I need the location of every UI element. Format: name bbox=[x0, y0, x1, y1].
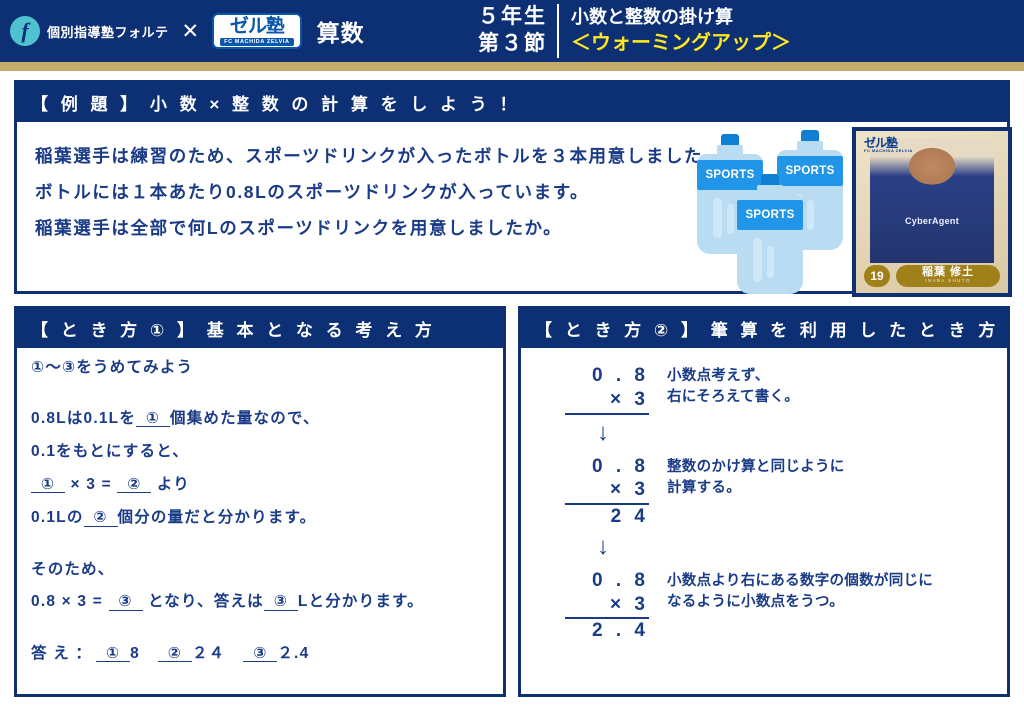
multiplicand: 0 . 8 bbox=[565, 364, 649, 388]
answer-mark-3: ③ bbox=[243, 646, 277, 663]
bottle-label: SPORTS bbox=[737, 200, 803, 230]
product: 2 4 bbox=[565, 505, 649, 529]
solution-1-step-line: 0.1Lの②個分の量だと分かります。 bbox=[31, 510, 503, 527]
calc-note-2: 整数のかけ算と同じように 計算する。 bbox=[667, 455, 845, 499]
player-photo: CyberAgent bbox=[870, 139, 994, 263]
answer-mark-2: ② bbox=[158, 646, 192, 663]
calculation-step-1: 0 . 8 × 3 小数点考えず、 右にそろえて書く。 bbox=[521, 364, 1007, 415]
answer-row: 答 え ：①8②２４③２.4 bbox=[31, 646, 503, 663]
solution-2-title: 【 と き 方 ② 】 筆 算 を 利 用 し た と き 方 bbox=[521, 309, 1007, 348]
calc-note-1: 小数点考えず、 右にそろえて書く。 bbox=[667, 364, 799, 408]
player-card-inner: CyberAgent ゼル塾 FC MACHIDA ZELVIA 19 稲葉 修… bbox=[856, 131, 1008, 293]
solution-1-step-line: 0.1をもとにすると、 bbox=[31, 444, 503, 460]
note-line: 右にそろえて書く。 bbox=[667, 387, 799, 408]
answer-value-3: ２.4 bbox=[277, 645, 309, 662]
down-arrow-icon: ↓ bbox=[521, 421, 1007, 445]
jersey-sponsor-text: CyberAgent bbox=[870, 216, 994, 226]
calc-column-2: 0 . 8 × 3 2 4 bbox=[565, 455, 649, 529]
page-header: f 個別指導塾フォルテ ✕ ゼル塾 FC MACHIDA ZELVIA 算数 ５… bbox=[0, 0, 1024, 62]
brand-lockup: f 個別指導塾フォルテ ✕ ゼル塾 FC MACHIDA ZELVIA 算数 bbox=[0, 13, 365, 49]
grade-line: ５年生 bbox=[478, 4, 547, 31]
sports-drink-bottles-illustration: SPORTS SPORTS SPORTS bbox=[693, 130, 853, 295]
player-name-pill: 稲葉 修土 INABA SHUTO bbox=[896, 265, 1000, 287]
player-name-roman: INABA SHUTO bbox=[925, 278, 971, 285]
spacer bbox=[31, 393, 503, 411]
solution-1-step-line: 0.8 × 3 = ③ となり、答えは③Lと分かります。 bbox=[31, 594, 503, 611]
multiplier: × 3 bbox=[565, 388, 649, 415]
product: 2 . 4 bbox=[565, 619, 649, 643]
blank-field-1[interactable]: ① bbox=[31, 477, 65, 494]
zeljuku-logo: ゼル塾 FC MACHIDA ZELVIA bbox=[212, 13, 302, 49]
player-card-footer: 19 稲葉 修土 INABA SHUTO bbox=[856, 263, 1008, 289]
brand-name: 個別指導塾フォルテ bbox=[47, 22, 169, 41]
solution-2-body: 0 . 8 × 3 小数点考えず、 右にそろえて書く。 ↓ 0 . 8 × 3 … bbox=[521, 348, 1007, 643]
solution-1-body: ①〜③をうめてみよう 0.8Lは0.1Lを①個集めた量なので、 0.1をもとにす… bbox=[17, 348, 503, 662]
solution-1-title: 【 と き 方 ① 】 基 本 と な る 考 え 方 bbox=[17, 309, 503, 348]
cross-icon: ✕ bbox=[182, 19, 200, 44]
step-text: 0.8Lは0.1Lを bbox=[31, 410, 136, 427]
step-text: Lと分かります。 bbox=[298, 593, 424, 610]
down-arrow-icon: ↓ bbox=[521, 535, 1007, 559]
calculation-step-2: 0 . 8 × 3 2 4 整数のかけ算と同じように 計算する。 bbox=[521, 455, 1007, 529]
blank-field-2[interactable]: ② bbox=[84, 510, 118, 527]
answer-label: 答 え ： bbox=[31, 645, 92, 662]
forte-f-logo-icon: f bbox=[10, 16, 40, 46]
blank-field-3[interactable]: ③ bbox=[109, 594, 143, 611]
step-text: 0.8 × 3 = bbox=[31, 593, 103, 610]
multiplicand: 0 . 8 bbox=[565, 569, 649, 593]
answer-item: ③２.4 bbox=[243, 645, 309, 662]
grade-block: ５年生 第３節 bbox=[478, 4, 559, 58]
step-text: 0.1Lの bbox=[31, 509, 84, 526]
calc-note-3: 小数点より右にある数字の個数が同じに なるように小数点をうつ。 bbox=[667, 569, 933, 613]
spacer bbox=[31, 628, 503, 646]
topic-block: 小数と整数の掛け算 ＜ウォーミングアップ＞ bbox=[559, 6, 791, 55]
answer-value-1: 8 bbox=[130, 645, 140, 662]
calc-column-3: 0 . 8 × 3 2 . 4 bbox=[565, 569, 649, 643]
player-card: CyberAgent ゼル塾 FC MACHIDA ZELVIA 19 稲葉 修… bbox=[852, 127, 1012, 297]
topic-title: 小数と整数の掛け算 bbox=[571, 6, 791, 29]
card-zeljuku-logo: ゼル塾 FC MACHIDA ZELVIA bbox=[864, 137, 913, 153]
answer-mark-1: ① bbox=[96, 646, 130, 663]
bottle-icon: SPORTS bbox=[737, 174, 803, 294]
calculation-step-3: 0 . 8 × 3 2 . 4 小数点より右にある数字の個数が同じに なるように… bbox=[521, 569, 1007, 643]
solution-1-step-line: そのため、 bbox=[31, 562, 503, 578]
note-line: 小数点考えず、 bbox=[667, 366, 799, 387]
zeljuku-logo-subtext: FC MACHIDA ZELVIA bbox=[220, 38, 294, 46]
step-text: となり、答えは bbox=[148, 593, 264, 610]
multiplicand: 0 . 8 bbox=[565, 455, 649, 479]
calc-column-1: 0 . 8 × 3 bbox=[565, 364, 649, 415]
multiplier: × 3 bbox=[565, 478, 649, 505]
player-name: 稲葉 修土 bbox=[922, 267, 974, 278]
blank-field-3[interactable]: ③ bbox=[264, 594, 298, 611]
answer-item: ①8 bbox=[96, 645, 140, 662]
example-body: 稲葉選手は練習のため、スポーツドリンクが入ったボトルを３本用意しました。 ボトル… bbox=[17, 122, 1007, 246]
subject-label: 算数 bbox=[317, 14, 365, 48]
step-text: 個分の量だと分かります。 bbox=[118, 509, 317, 526]
card-logo-subtext: FC MACHIDA ZELVIA bbox=[864, 149, 913, 153]
note-line: なるように小数点をうつ。 bbox=[667, 592, 933, 613]
worksheet-page: f 個別指導塾フォルテ ✕ ゼル塾 FC MACHIDA ZELVIA 算数 ５… bbox=[0, 0, 1024, 709]
player-number: 19 bbox=[864, 265, 890, 287]
gold-divider bbox=[0, 62, 1024, 71]
example-panel: 【 例 題 】 小 数 × 整 数 の 計 算 を し よ う ！ 稲葉選手は練… bbox=[14, 80, 1010, 294]
section-subtitle: ＜ウォーミングアップ＞ bbox=[571, 30, 791, 56]
section-line: 第３節 bbox=[478, 31, 547, 58]
solution-panel-2: 【 と き 方 ② 】 筆 算 を 利 用 し た と き 方 0 . 8 × … bbox=[518, 306, 1010, 697]
step-text: × 3 = bbox=[71, 476, 112, 493]
solution-1-step-line: ① × 3 = ② より bbox=[31, 477, 503, 494]
multiplier: × 3 bbox=[565, 593, 649, 620]
spacer bbox=[31, 544, 503, 562]
header-right-group: ５年生 第３節 小数と整数の掛け算 ＜ウォーミングアップ＞ bbox=[478, 0, 791, 62]
note-line: 計算する。 bbox=[667, 478, 845, 499]
example-title: 【 例 題 】 小 数 × 整 数 の 計 算 を し よ う ！ bbox=[17, 83, 1007, 122]
note-line: 整数のかけ算と同じように bbox=[667, 457, 845, 478]
step-text: 個集めた量なので、 bbox=[170, 410, 320, 427]
zeljuku-logo-text: ゼル塾 bbox=[230, 17, 284, 37]
blank-field-1[interactable]: ① bbox=[136, 411, 170, 428]
answer-value-2: ２４ bbox=[192, 645, 225, 662]
solution-panel-1: 【 と き 方 ① 】 基 本 と な る 考 え 方 ①〜③をうめてみよう 0… bbox=[14, 306, 506, 697]
solution-1-intro: ①〜③をうめてみよう bbox=[31, 360, 503, 376]
solution-1-step-line: 0.8Lは0.1Lを①個集めた量なので、 bbox=[31, 411, 503, 428]
step-text: より bbox=[157, 476, 190, 493]
blank-field-2[interactable]: ② bbox=[117, 477, 151, 494]
answer-item: ②２４ bbox=[158, 645, 225, 662]
note-line: 小数点より右にある数字の個数が同じに bbox=[667, 571, 933, 592]
